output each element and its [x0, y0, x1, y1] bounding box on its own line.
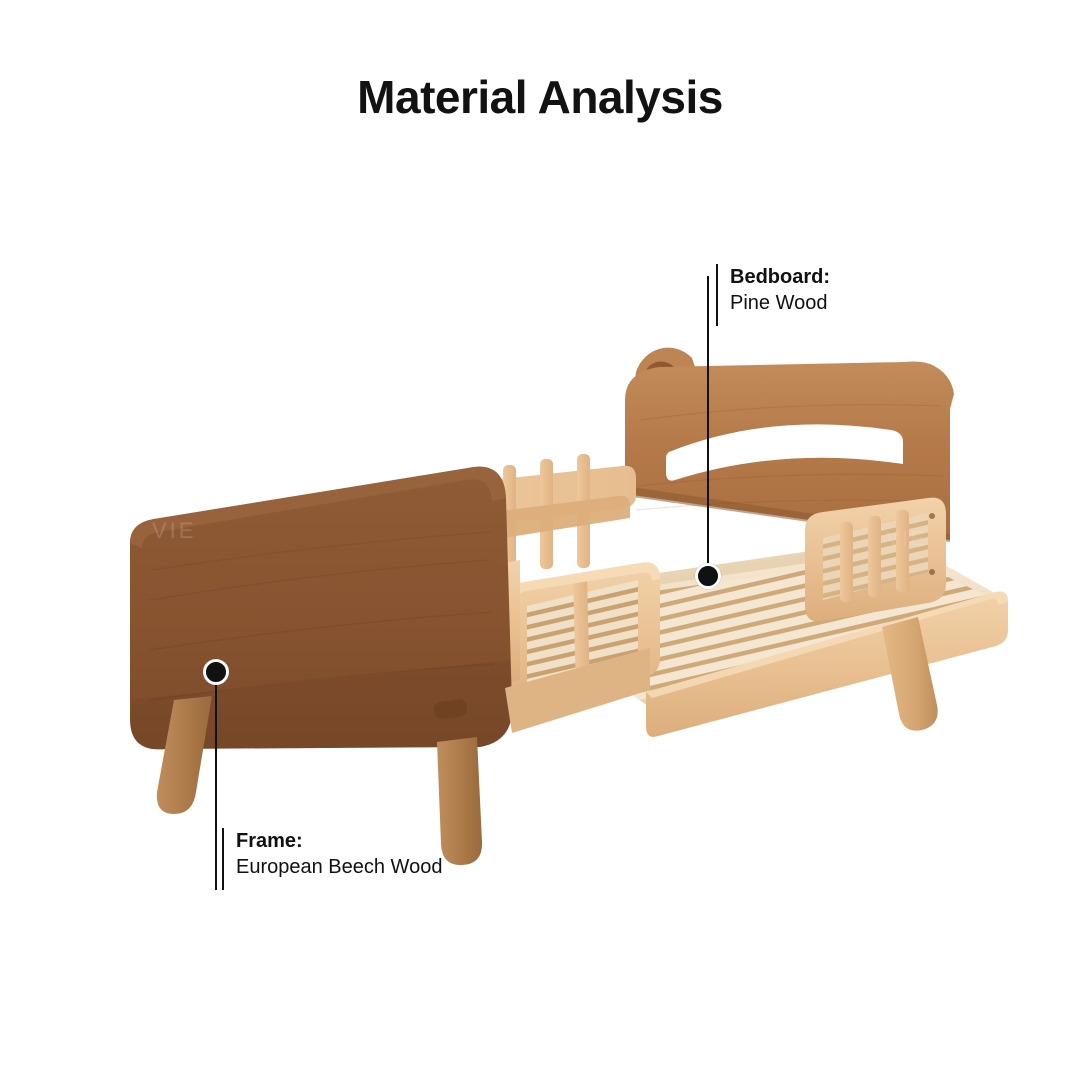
- product-illustration: VIE VIE: [0, 0, 1080, 1080]
- callout-frame: Frame: European Beech Wood: [222, 828, 442, 881]
- callout-bedboard-label: Bedboard:: [730, 264, 830, 290]
- callout-frame-value: European Beech Wood: [236, 854, 442, 880]
- watermark-left: VIE: [152, 518, 196, 543]
- watermark-right: VIE: [886, 528, 927, 550]
- frame-marker-dot[interactable]: [203, 659, 229, 685]
- illustration-canvas: Material Analysis: [0, 0, 1080, 1080]
- callout-bedboard: Bedboard: Pine Wood: [716, 264, 830, 317]
- bedboard-leader-line: [707, 276, 709, 576]
- callout-frame-label: Frame:: [236, 828, 442, 854]
- leg-front-right: [437, 737, 482, 865]
- callout-frame-rule: [222, 828, 224, 890]
- bedboard-marker-dot[interactable]: [695, 563, 721, 589]
- callout-bedboard-rule: [716, 264, 718, 326]
- callout-bedboard-value: Pine Wood: [730, 290, 830, 316]
- frame-leader-line: [215, 685, 217, 890]
